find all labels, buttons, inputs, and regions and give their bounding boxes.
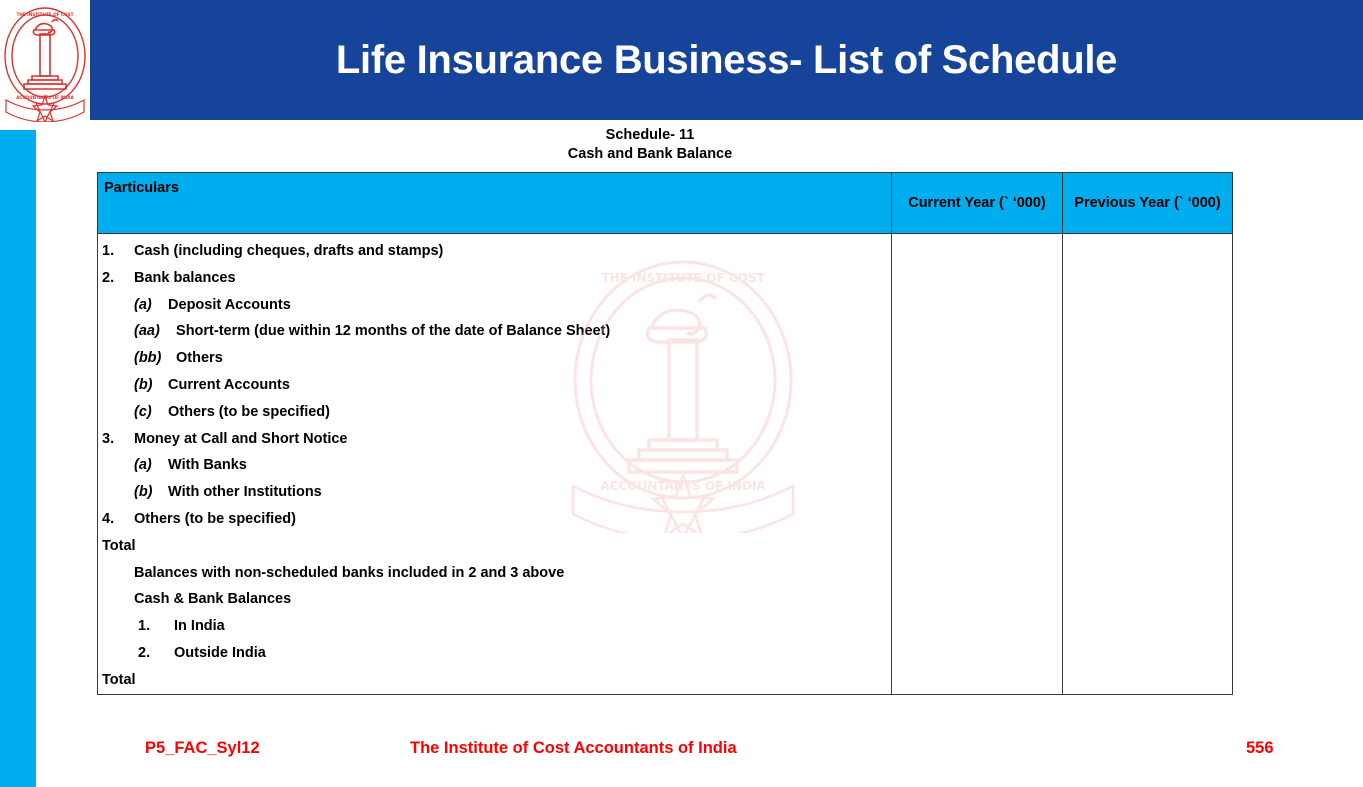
- row-label: Others (to be specified): [134, 506, 296, 533]
- schedule-number: Schedule- 11: [95, 126, 1205, 145]
- footer: P5_FAC_Syl12 The Institute of Cost Accou…: [0, 735, 1363, 769]
- column-divider-previous-year: [1062, 234, 1063, 694]
- row-label: Deposit Accounts: [164, 297, 291, 313]
- row-label: Others: [172, 350, 223, 366]
- column-header-current-year: Current Year (` ‘000): [891, 173, 1062, 233]
- row-label: Current Accounts: [164, 377, 290, 393]
- row-marker: (bb): [134, 345, 172, 372]
- svg-text:THE INSTITUTE OF COST: THE INSTITUTE OF COST: [17, 12, 74, 17]
- column-divider-current-year: [891, 234, 892, 694]
- row-number: 1.: [102, 238, 124, 265]
- column-header-previous-year: Previous Year (` ‘000): [1062, 173, 1232, 233]
- row-label: Total: [102, 667, 136, 694]
- table-row: (b) With other Institutions: [98, 479, 891, 506]
- row-label: With other Institutions: [164, 484, 322, 500]
- left-accent-strip: [0, 130, 36, 787]
- row-marker: (b): [134, 479, 164, 506]
- row-label: Short-term (due within 12 months of the …: [172, 323, 610, 339]
- header-band: Life Insurance Business- List of Schedul…: [90, 0, 1363, 120]
- table-row: (a) With Banks: [98, 452, 891, 479]
- table-row: 4.Others (to be specified): [98, 506, 891, 533]
- table-header-row: Particulars Current Year (` ‘000) Previo…: [98, 173, 1232, 234]
- table-row: 1.In India: [98, 613, 891, 640]
- svg-text:ACCOUNTANTS OF INDIA: ACCOUNTANTS OF INDIA: [16, 95, 74, 100]
- table-row: (bb) Others: [98, 345, 891, 372]
- row-number: 1.: [138, 613, 160, 640]
- row-number: 2.: [138, 640, 160, 667]
- row-label: Cash (including cheques, drafts and stam…: [134, 238, 443, 265]
- institute-logo-icon: THE INSTITUTE OF COST ACCOUNTANTS OF IND…: [2, 4, 88, 122]
- table-row: 2.Outside India: [98, 640, 891, 667]
- row-label: Total: [102, 533, 136, 560]
- table-body: 1.Cash (including cheques, drafts and st…: [98, 234, 1232, 694]
- row-label: Bank balances: [134, 265, 236, 292]
- row-marker: (a): [134, 292, 164, 319]
- row-marker: (b): [134, 372, 164, 399]
- footer-institute-name: The Institute of Cost Accountants of Ind…: [410, 739, 737, 758]
- row-label: Cash & Bank Balances: [134, 586, 291, 613]
- row-marker: (c): [134, 399, 164, 426]
- row-marker: (aa): [134, 318, 172, 345]
- table-row: 1.Cash (including cheques, drafts and st…: [98, 238, 891, 265]
- row-number: 2.: [102, 265, 124, 292]
- row-label: Outside India: [174, 640, 266, 667]
- page-title: Life Insurance Business- List of Schedul…: [90, 0, 1363, 120]
- row-label: Balances with non-scheduled banks includ…: [134, 560, 564, 587]
- table-row: Total: [98, 533, 891, 560]
- table-row: (a) Deposit Accounts: [98, 292, 891, 319]
- footer-page-number: 556: [1246, 739, 1274, 758]
- row-number: 3.: [102, 426, 124, 453]
- table-row: 3.Money at Call and Short Notice: [98, 426, 891, 453]
- table-row: (c) Others (to be specified): [98, 399, 891, 426]
- schedule-table: Particulars Current Year (` ‘000) Previo…: [97, 172, 1233, 695]
- row-label: Money at Call and Short Notice: [134, 426, 348, 453]
- table-row: Balances with non-scheduled banks includ…: [98, 560, 891, 587]
- table-row: Cash & Bank Balances: [98, 586, 891, 613]
- table-row: (b) Current Accounts: [98, 372, 891, 399]
- schedule-name: Cash and Bank Balance: [95, 145, 1205, 164]
- row-label: Others (to be specified): [164, 404, 330, 420]
- table-row: 2.Bank balances: [98, 265, 891, 292]
- particulars-column: 1.Cash (including cheques, drafts and st…: [98, 234, 891, 694]
- table-row: Total: [98, 667, 891, 694]
- row-label: In India: [174, 613, 225, 640]
- table-row: (aa) Short-term (due within 12 months of…: [98, 318, 891, 345]
- row-number: 4.: [102, 506, 124, 533]
- row-marker: (a): [134, 452, 164, 479]
- column-header-particulars: Particulars: [98, 173, 891, 233]
- schedule-caption: Schedule- 11 Cash and Bank Balance: [95, 126, 1205, 164]
- footer-subject-code: P5_FAC_Syl12: [145, 739, 260, 758]
- row-label: With Banks: [164, 457, 247, 473]
